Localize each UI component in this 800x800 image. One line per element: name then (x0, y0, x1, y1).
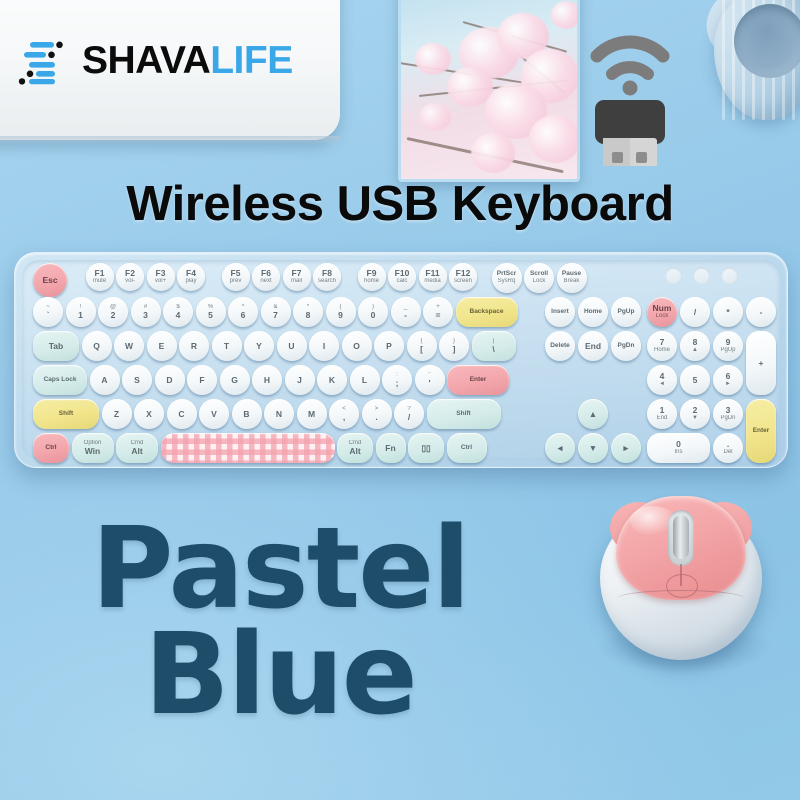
key-legend: B (243, 410, 249, 419)
key-legend: E (159, 342, 165, 351)
key-key[interactable]: + (746, 331, 776, 395)
key-v[interactable]: V (199, 399, 229, 429)
key-legend: ' (428, 379, 430, 388)
key-legend-secondary: # (144, 304, 147, 310)
key-legend-secondary: Break (564, 278, 580, 284)
key-legend: U (288, 342, 294, 351)
key-legend-secondary: Ins (674, 449, 682, 455)
key-g[interactable]: G (220, 365, 250, 395)
key-0[interactable]: )0 (358, 297, 388, 327)
key-key[interactable]: _- (391, 297, 421, 327)
key-legend: Pause (562, 271, 581, 278)
key-3[interactable]: #3 (131, 297, 161, 327)
key-9[interactable]: (9 (326, 297, 356, 327)
key-enter[interactable]: Enter (746, 399, 776, 463)
mouse-gloss (630, 506, 676, 536)
key-legend: 3 (143, 311, 148, 320)
key-f6[interactable]: F6next (252, 263, 280, 291)
key-legend: / (694, 308, 696, 317)
key-key[interactable] (161, 433, 335, 463)
key-legend: F8 (322, 269, 332, 278)
key-key[interactable]: }] (439, 331, 469, 361)
key-y[interactable]: Y (244, 331, 274, 361)
key-legend-secondary: @ (110, 304, 116, 310)
key-legend-secondary: mute (93, 278, 106, 284)
key-ctrl[interactable]: Ctrl (447, 433, 487, 463)
key-p[interactable]: P (374, 331, 404, 361)
key-f4[interactable]: F4play (177, 263, 205, 291)
key-legend: 1 (660, 406, 665, 415)
logo-text-accent: LIFE (210, 39, 293, 83)
key-legend: F1 (95, 269, 105, 278)
key-legend: Shift (59, 411, 73, 418)
key-s[interactable]: S (122, 365, 152, 395)
key-key[interactable]: :; (382, 365, 412, 395)
key-7[interactable]: &7 (261, 297, 291, 327)
key-legend-secondary: ~ (46, 304, 50, 310)
key-legend: 4 (660, 372, 665, 381)
key-legend: F10 (395, 269, 410, 278)
key-esc[interactable]: Esc (33, 263, 67, 297)
key-backspace[interactable]: Backspace (456, 297, 518, 327)
key-legend: 1 (78, 311, 83, 320)
key-pgup[interactable]: PgUp (611, 297, 641, 327)
key-legend: 3 (726, 406, 731, 415)
key-legend: Ctrl (461, 445, 472, 452)
key-legend: 0 (676, 440, 681, 449)
key-7[interactable]: 7Home (647, 331, 677, 361)
key-legend: Y (256, 342, 262, 351)
key-legend: ▼ (589, 444, 597, 453)
key-key[interactable]: .Del (713, 433, 743, 463)
key-legend: Ctrl (45, 445, 56, 452)
key-legend-secondary: Lock (656, 313, 669, 319)
key-legend: , (343, 413, 345, 422)
key-legend: O (353, 342, 360, 351)
key-legend: 7 (273, 311, 278, 320)
key-tab[interactable]: Tab (33, 331, 79, 361)
key-legend-secondary: ▲ (692, 347, 698, 353)
key-legend-secondary: Cmd (349, 440, 362, 446)
key-legend-secondary: * (307, 304, 309, 310)
usb-dongle-icon (575, 26, 685, 166)
product-banner: SHAVA LIFE (0, 0, 800, 800)
key-legend-secondary: " (428, 372, 430, 378)
key-delete[interactable]: Delete (545, 331, 575, 361)
arrow-up-key[interactable]: ▲ (578, 399, 608, 429)
key-legend-secondary: prev (230, 278, 242, 284)
key-e[interactable]: E (147, 331, 177, 361)
key-shift[interactable]: Shift (427, 399, 501, 429)
key-legend-secondary: Home (654, 347, 670, 353)
key-legend: 4 (176, 311, 181, 320)
key-legend-secondary: play (185, 278, 196, 284)
key-legend: R (191, 342, 197, 351)
key-legend: 5 (693, 376, 698, 385)
key-legend: F5 (231, 269, 241, 278)
key-insert[interactable]: Insert (545, 297, 575, 327)
key-legend: F9 (367, 269, 377, 278)
key-key[interactable]: >. (362, 399, 392, 429)
key-ctrl[interactable]: Ctrl (33, 433, 69, 463)
key-legend: 7 (660, 338, 665, 347)
key-4[interactable]: 4◄ (647, 365, 677, 395)
key-prtscr[interactable]: PrtScrSysRq (492, 263, 522, 293)
key-n[interactable]: N (264, 399, 294, 429)
key-x[interactable]: X (134, 399, 164, 429)
variant-line-2: Blue (0, 624, 560, 727)
key-key[interactable]: {[ (407, 331, 437, 361)
key-legend: V (211, 410, 217, 419)
key-legend-secondary: ) (372, 304, 374, 310)
key-6[interactable]: ^6 (228, 297, 258, 327)
key-legend-secondary: vol- (125, 278, 135, 284)
key-legend: ▲ (589, 410, 597, 419)
key-legend: S (134, 376, 140, 385)
key-legend-secondary: + (436, 304, 440, 310)
variant-line-1: Pastel (0, 518, 560, 621)
key-legend: 2 (693, 406, 698, 415)
speed-lines-icon (16, 36, 66, 86)
key-legend-secondary: vol+ (155, 278, 166, 284)
key-legend: Backspace (470, 309, 504, 316)
key-legend: - (404, 311, 407, 320)
key-key[interactable]: / (680, 297, 710, 327)
key-legend-secondary: ( (340, 304, 342, 310)
key-c[interactable]: C (167, 399, 197, 429)
key-5[interactable]: %5 (196, 297, 226, 327)
key-legend: W (125, 342, 133, 351)
key-legend: Insert (551, 309, 569, 316)
key-pause[interactable]: PauseBreak (557, 263, 587, 293)
key-legend: M (308, 410, 315, 419)
key-l[interactable]: L (350, 365, 380, 395)
key-3[interactable]: 3PgDn (713, 399, 743, 429)
key-legend: Esc (42, 276, 57, 285)
brand-logo: SHAVA LIFE (16, 36, 293, 86)
key-legend-secondary: End (657, 415, 668, 421)
key-legend-secondary: media (424, 278, 440, 284)
key-key[interactable]: ?/ (394, 399, 424, 429)
key-caps-lock[interactable]: Caps Lock (33, 365, 87, 395)
key-0[interactable]: 0Ins (647, 433, 710, 463)
key-legend: Enter (470, 377, 487, 384)
key-legend: L (362, 376, 367, 385)
key-legend: H (264, 376, 270, 385)
key-legend: F2 (125, 269, 135, 278)
key-legend-secondary: next (260, 278, 271, 284)
key-legend: . (375, 413, 377, 422)
key-legend: 9 (338, 311, 343, 320)
key-b[interactable]: B (232, 399, 262, 429)
key-legend-secondary: } (453, 338, 455, 344)
key-legend-secondary: Cmd (131, 440, 144, 446)
scroll-lock-led (721, 267, 738, 284)
key-scroll[interactable]: ScrollLock (524, 263, 554, 293)
key-legend: ◄ (556, 444, 564, 453)
key-z[interactable]: Z (102, 399, 132, 429)
key-legend: / (408, 413, 410, 422)
sakura-postcard (398, 0, 580, 182)
key-legend: - (760, 308, 763, 317)
key-key[interactable]: ▯▯ (408, 433, 444, 463)
key-legend: Z (114, 410, 119, 419)
key-legend: T (224, 342, 229, 351)
key-f5[interactable]: F5prev (222, 263, 250, 291)
key-legend-secondary: ! (80, 304, 82, 310)
key-h[interactable]: H (252, 365, 282, 395)
key-2[interactable]: 2▼ (680, 399, 710, 429)
key-legend-secondary: < (342, 406, 346, 412)
key-legend: N (276, 410, 282, 419)
key-legend: A (101, 376, 107, 385)
key-legend-secondary: Del (723, 449, 732, 455)
num-lock-led (665, 267, 682, 284)
key-legend: F6 (261, 269, 271, 278)
caps-lock-led (693, 267, 710, 284)
key-legend-secondary: SysRq (498, 278, 516, 284)
key-legend: Home (584, 309, 602, 316)
key-legend-secondary: : (396, 372, 398, 378)
key-r[interactable]: R (179, 331, 209, 361)
key-shift[interactable]: Shift (33, 399, 99, 429)
key-f12[interactable]: F12screen (449, 263, 477, 291)
key-j[interactable]: J (285, 365, 315, 395)
key-8[interactable]: 8▲ (680, 331, 710, 361)
key-alt[interactable]: CmdAlt (116, 433, 158, 463)
key-legend-secondary: & (273, 304, 277, 310)
key-legend-secondary: | (493, 338, 495, 344)
key-legend: F4 (186, 269, 196, 278)
key-legend-secondary: home (364, 278, 379, 284)
key-f10[interactable]: F10calc (388, 263, 416, 291)
key-1[interactable]: !1 (66, 297, 96, 327)
key-legend: Alt (131, 447, 142, 456)
key-f2[interactable]: F2vol- (116, 263, 144, 291)
key-legend: Tab (49, 342, 63, 351)
key-legend-secondary: calc (397, 278, 408, 284)
key-legend: Alt (349, 447, 360, 456)
mouse-dpi-ring (666, 574, 698, 598)
arrow-left-key[interactable]: ◄ (545, 433, 575, 463)
key-legend: * (726, 308, 729, 317)
key-legend: 9 (726, 338, 731, 347)
key-legend: 6 (241, 311, 246, 320)
key-6[interactable]: 6► (713, 365, 743, 395)
key-key[interactable]: <, (329, 399, 359, 429)
key-key[interactable]: "' (415, 365, 445, 395)
logo-text-primary: SHAVA (82, 39, 210, 83)
key-legend: [ (420, 345, 423, 354)
key-legend: End (585, 342, 601, 351)
key-legend: 8 (306, 311, 311, 320)
key-legend: ▯▯ (421, 444, 430, 453)
key-legend: C (178, 410, 184, 419)
key-legend: G (231, 376, 238, 385)
key-legend-secondary: Option (84, 440, 102, 446)
key-home[interactable]: Home (578, 297, 608, 327)
key-key[interactable]: * (713, 297, 743, 327)
key-legend: P (386, 342, 392, 351)
key-legend: F11 (425, 269, 439, 278)
key-legend: K (329, 376, 335, 385)
key-f8[interactable]: F8search (313, 263, 341, 291)
key-5[interactable]: 5 (680, 365, 710, 395)
key-key[interactable]: - (746, 297, 776, 327)
key-legend: \ (492, 345, 494, 354)
key-alt[interactable]: CmdAlt (337, 433, 373, 463)
key-legend-secondary: ▼ (692, 415, 698, 421)
key-legend: Shift (456, 411, 470, 418)
key-legend-secondary: mail (291, 278, 302, 284)
key-legend-secondary: ► (725, 381, 731, 387)
key-legend: 2 (111, 311, 116, 320)
key-key[interactable]: += (423, 297, 453, 327)
key-legend: F12 (456, 269, 471, 278)
key-legend-secondary: $ (176, 304, 179, 310)
key-k[interactable]: K (317, 365, 347, 395)
key-8[interactable]: *8 (293, 297, 323, 327)
key-a[interactable]: A (90, 365, 120, 395)
key-t[interactable]: T (212, 331, 242, 361)
arrow-down-key[interactable]: ▼ (578, 433, 608, 463)
wireless-keyboard[interactable]: EscF1muteF2vol-F3vol+F4playF5prevF6nextF… (14, 252, 788, 468)
key-legend: J (297, 376, 302, 385)
key-f9[interactable]: F9home (358, 263, 386, 291)
key-key[interactable]: ~` (33, 297, 63, 327)
key-win[interactable]: OptionWin (72, 433, 114, 463)
key-legend-secondary: screen (454, 278, 472, 284)
key-q[interactable]: Q (82, 331, 112, 361)
key-legend: F7 (292, 269, 302, 278)
arrow-right-key[interactable]: ► (611, 433, 641, 463)
key-legend: = (436, 311, 441, 320)
key-2[interactable]: @2 (98, 297, 128, 327)
key-legend-secondary: PgUp (720, 347, 735, 353)
key-fn[interactable]: Fn (376, 433, 406, 463)
key-legend: ► (622, 444, 630, 453)
key-legend: PgUp (618, 309, 635, 316)
key-pgdn[interactable]: PgDn (611, 331, 641, 361)
key-legend: ] (453, 345, 456, 354)
key-legend: PgDn (618, 343, 635, 350)
key-4[interactable]: $4 (163, 297, 193, 327)
key-legend: ` (47, 311, 50, 320)
key-legend-secondary: ◄ (659, 381, 665, 387)
key-d[interactable]: D (155, 365, 185, 395)
key-legend: F3 (156, 269, 166, 278)
key-num[interactable]: NumLock (647, 297, 677, 327)
key-i[interactable]: I (309, 331, 339, 361)
key-legend-secondary: PgDn (720, 415, 735, 421)
key-legend: ; (396, 379, 399, 388)
key-legend: 6 (726, 372, 731, 381)
key-legend: X (146, 410, 152, 419)
key-f11[interactable]: F11media (419, 263, 447, 291)
key-legend: 5 (208, 311, 213, 320)
key-legend: D (166, 376, 172, 385)
key-f7[interactable]: F7mail (283, 263, 311, 291)
key-legend: Enter (753, 428, 770, 435)
key-legend: 8 (693, 338, 698, 347)
key-legend-secondary: { (420, 338, 422, 344)
key-legend-secondary: _ (404, 304, 407, 310)
key-legend-secondary: search (318, 278, 336, 284)
key-legend: + (759, 359, 764, 368)
page-title: Wireless USB Keyboard (0, 176, 800, 232)
key-legend: Win (85, 447, 101, 456)
key-end[interactable]: End (578, 331, 608, 361)
key-1[interactable]: 1End (647, 399, 677, 429)
key-key[interactable]: |\ (472, 331, 516, 361)
key-legend: F (199, 376, 204, 385)
wifi-signal-icon (597, 42, 663, 74)
key-legend: Num (653, 304, 672, 313)
mug-interior (734, 4, 800, 78)
key-legend: Delete (550, 343, 570, 350)
key-w[interactable]: W (114, 331, 144, 361)
key-legend-secondary: ^ (242, 304, 245, 310)
key-legend-secondary: > (375, 406, 379, 412)
key-enter[interactable]: Enter (447, 365, 509, 395)
key-legend-secondary: Lock (533, 278, 546, 284)
wireless-mouse[interactable] (600, 496, 762, 660)
key-u[interactable]: U (277, 331, 307, 361)
key-m[interactable]: M (297, 399, 327, 429)
key-legend: . (727, 440, 729, 449)
ceramic-mug (700, 0, 800, 128)
key-o[interactable]: O (342, 331, 372, 361)
key-legend-secondary: % (208, 304, 213, 310)
key-legend: Q (93, 342, 100, 351)
key-f3[interactable]: F3vol+ (147, 263, 175, 291)
key-f[interactable]: F (187, 365, 217, 395)
key-9[interactable]: 9PgUp (713, 331, 743, 361)
key-legend: Fn (385, 444, 395, 453)
key-legend: Scroll (530, 271, 548, 278)
key-legend: 0 (371, 311, 376, 320)
key-legend: I (323, 342, 325, 351)
key-f1[interactable]: F1mute (86, 263, 114, 291)
key-legend: PrtScr (497, 271, 517, 278)
key-legend-secondary: ? (407, 406, 410, 412)
key-legend: Caps Lock (44, 377, 77, 384)
